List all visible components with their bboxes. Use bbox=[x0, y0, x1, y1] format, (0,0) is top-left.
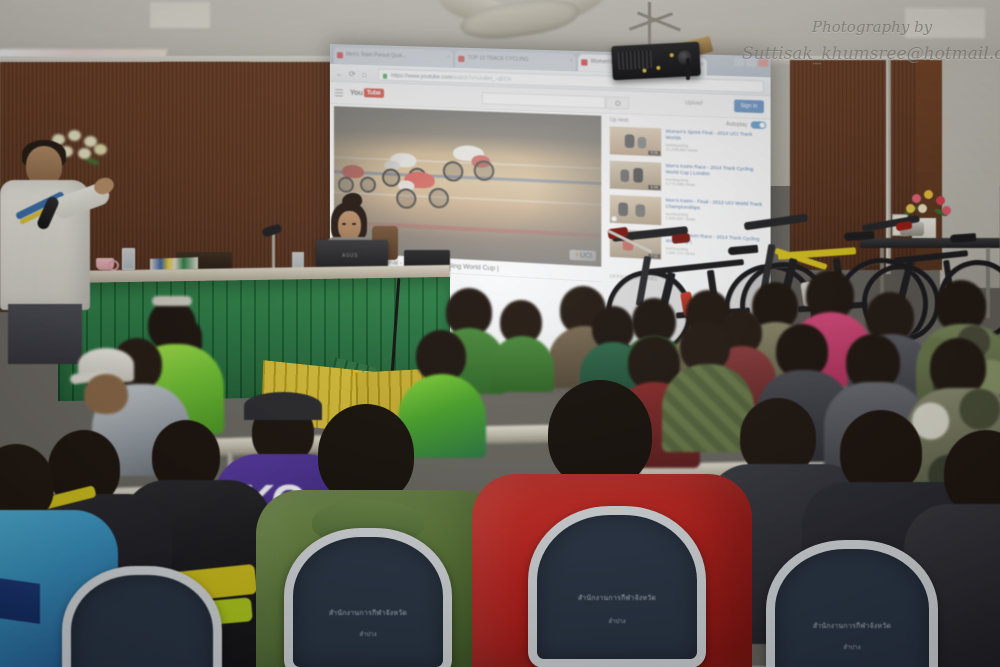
cyclist bbox=[396, 171, 451, 210]
cap bbox=[244, 392, 322, 420]
back-arrow-icon[interactable]: ← bbox=[336, 69, 344, 78]
projector-lens bbox=[677, 50, 692, 65]
reload-icon[interactable]: ⟳ bbox=[349, 70, 356, 79]
chair-back: สำนักงานการกีฬาจังหวัด ลำปาง bbox=[284, 528, 452, 667]
suggestion-item[interactable]: 6:08 Men's Keirin Race - 2014 Track Cycl… bbox=[610, 161, 766, 196]
microphone-stand bbox=[272, 232, 275, 270]
projector-mount bbox=[648, 2, 651, 50]
duration-badge: 5:26 bbox=[648, 151, 660, 156]
up-next-label: Up next bbox=[610, 117, 628, 124]
favicon-icon bbox=[458, 56, 464, 62]
upload-button[interactable]: Upload bbox=[685, 100, 702, 107]
search-button[interactable] bbox=[606, 96, 629, 109]
chair-text-line-1: สำนักงานการกีฬาจังหวัด bbox=[766, 621, 938, 632]
close-icon[interactable]: × bbox=[570, 58, 573, 64]
photo-scene: Men's Team Pursuit Qual... × TOP 10 TRAC… bbox=[0, 0, 1000, 667]
home-icon[interactable]: ⌂ bbox=[362, 70, 367, 79]
search-icon bbox=[615, 101, 620, 106]
youtube-logo-box: Tube bbox=[364, 88, 384, 98]
suggestion-thumbnail: 6:08 bbox=[610, 161, 661, 191]
tab-label: Men's Team Pursuit Qual... bbox=[346, 51, 406, 59]
url-path: /watch?v=cIu8et_-qEOx bbox=[452, 75, 511, 83]
drinking-glass bbox=[122, 248, 135, 270]
url-scheme: https:// bbox=[391, 73, 407, 80]
chair-text-line-2: ลำปาง bbox=[284, 629, 452, 639]
chair-back: สำนักงานการกีฬาจังหวัด ลำปาง bbox=[528, 506, 706, 667]
tab-label: TOP 10 TRACK CYCLING bbox=[467, 55, 528, 63]
chair-back bbox=[62, 566, 222, 667]
close-icon[interactable]: × bbox=[700, 62, 703, 68]
bike-saddle bbox=[950, 233, 976, 243]
handlebar-grip bbox=[672, 233, 691, 244]
favicon-icon bbox=[337, 52, 343, 58]
close-icon[interactable]: × bbox=[447, 54, 450, 60]
cyclist bbox=[338, 164, 378, 196]
ceiling-fan bbox=[430, 0, 610, 42]
watermark-line-1: Photography by bbox=[812, 18, 932, 36]
sunglasses bbox=[152, 296, 192, 306]
chair-text-line-1: สำนักงานการกีฬาจังหวัด bbox=[284, 608, 452, 619]
chair-text-line-1: สำนักงานการกีฬาจังหวัด bbox=[528, 593, 706, 604]
autoplay-label: Autoplay bbox=[726, 121, 747, 128]
speaker-with-microphone bbox=[0, 140, 110, 340]
chair-text-line-2: ลำปาง bbox=[528, 616, 706, 626]
chair-back: สำนักงานการกีฬาจังหวัด ลำปาง bbox=[766, 540, 938, 667]
suggestion-item[interactable]: 5:26 Women's Sprint Final - 2014 UCI Tra… bbox=[610, 126, 766, 160]
projector-cable bbox=[686, 58, 690, 80]
youtube-logo[interactable]: You Tube bbox=[350, 88, 384, 98]
autoplay-toggle[interactable] bbox=[751, 121, 766, 129]
suggestion-thumbnail: 5:26 bbox=[610, 126, 661, 156]
uci-watermark: ✦UCI bbox=[570, 250, 596, 262]
fluorescent-light bbox=[150, 2, 210, 28]
url-host: www.youtube.com bbox=[407, 73, 452, 80]
duration-badge: 6:08 bbox=[648, 185, 660, 190]
laptop-brand: ASUS bbox=[342, 253, 358, 259]
handlebar-grip bbox=[895, 221, 912, 232]
favicon-icon bbox=[581, 59, 587, 65]
youtube-logo-word: You bbox=[350, 88, 363, 97]
watermark-line-2: Suttisak_khumsree@hotmail.com bbox=[742, 44, 1000, 64]
signin-button[interactable]: Sign in bbox=[734, 100, 764, 114]
trousers bbox=[8, 304, 82, 364]
search-input[interactable] bbox=[482, 92, 606, 109]
chair-text-line-2: ลำปาง bbox=[766, 642, 938, 652]
hamburger-icon[interactable] bbox=[335, 89, 343, 96]
lock-icon bbox=[383, 73, 387, 78]
